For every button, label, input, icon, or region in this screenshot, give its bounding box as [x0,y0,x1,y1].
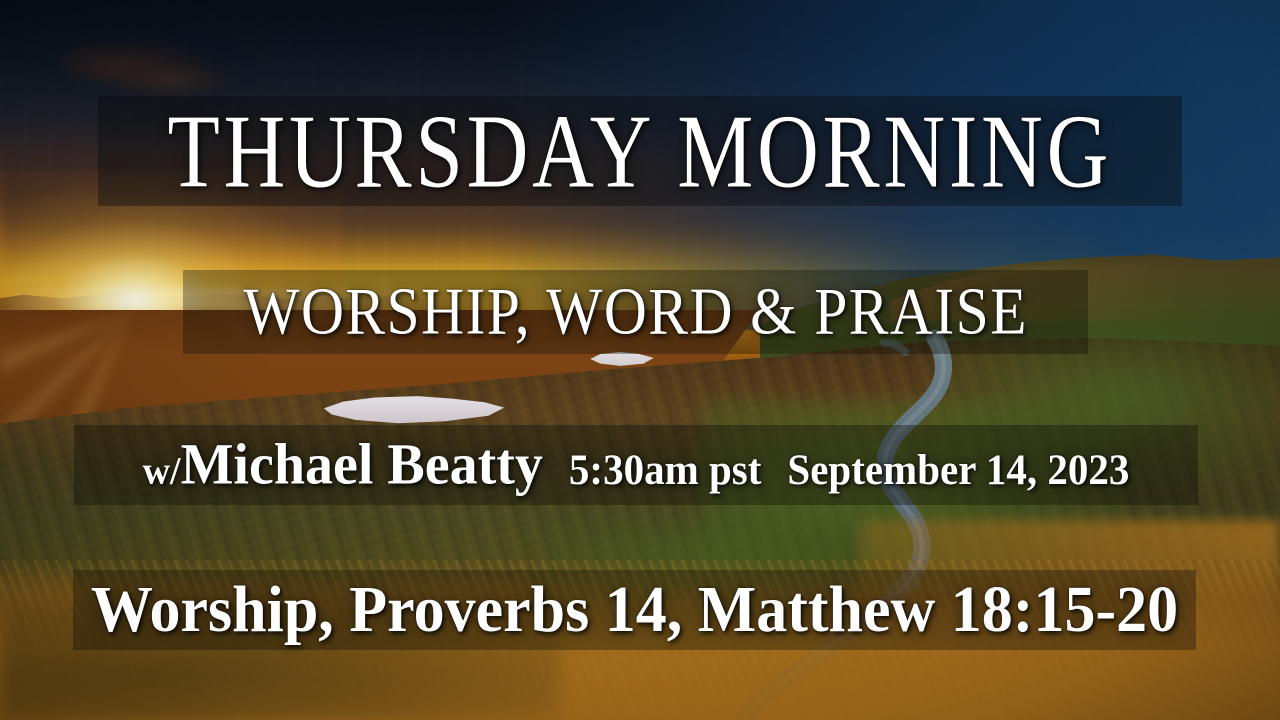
page-title: THURSDAY MORNING [168,99,1113,204]
scripture-references: Worship, Proverbs 14, Matthew 18:15-20 [91,577,1178,643]
subtitle-bar: WORSHIP, WORD & PRAISE [183,270,1088,354]
subtitle: WORSHIP, WORD & PRAISE [243,279,1028,346]
host-name: Michael Beatty [181,433,543,497]
host-name-group: w/Michael Beatty [143,436,543,494]
host-prefix: w/ [143,449,181,493]
scripture-bar: Worship, Proverbs 14, Matthew 18:15-20 [73,570,1196,650]
service-date: September 14, 2023 [787,448,1129,491]
title-bar: THURSDAY MORNING [98,96,1182,206]
service-time: 5:30am pst [569,448,761,491]
announcement-slide: THURSDAY MORNING WORSHIP, WORD & PRAISE … [0,0,1280,720]
host-info-bar: w/Michael Beatty 5:30am pst September 14… [74,425,1198,505]
host-info-row: w/Michael Beatty 5:30am pst September 14… [74,437,1198,493]
